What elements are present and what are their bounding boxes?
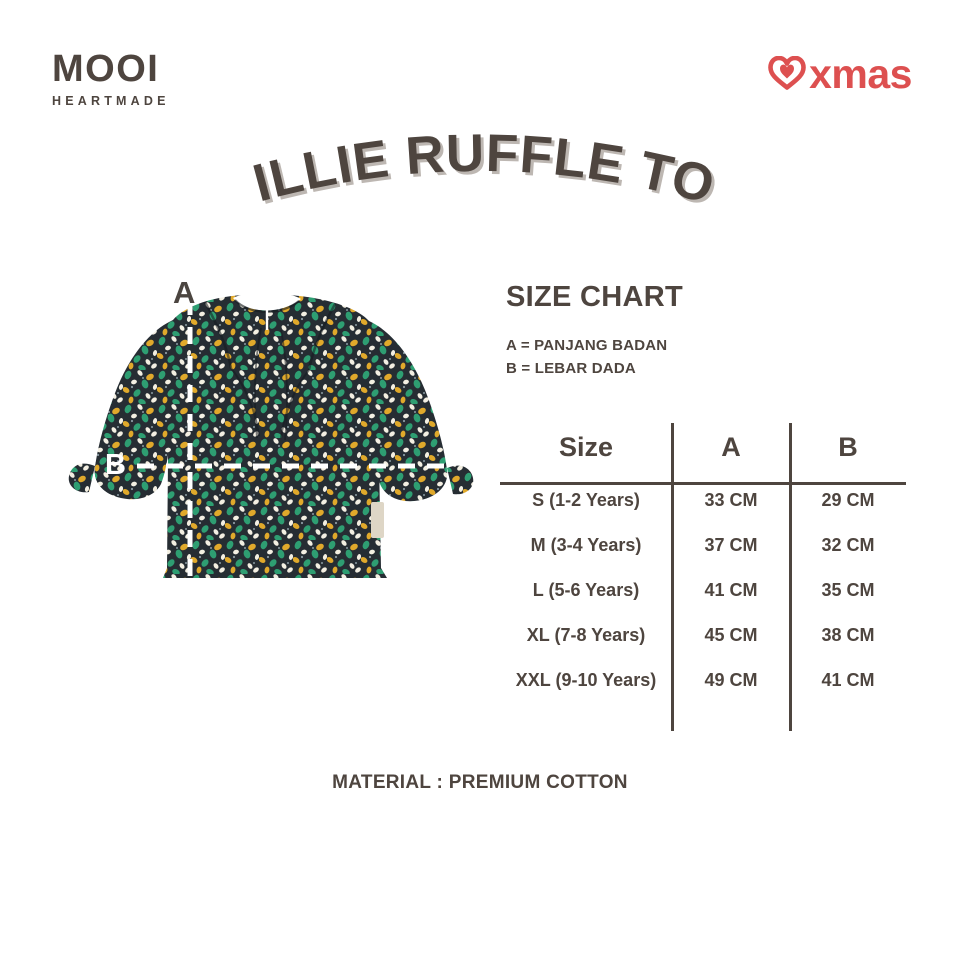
measure-label-b: B (105, 451, 126, 480)
column-header-size: Size (500, 420, 672, 478)
garment-body (163, 292, 387, 578)
cell-a: 41 CM (672, 568, 790, 613)
cell-size: L (5-6 Years) (500, 568, 672, 613)
legend-line-a: A = PANJANG BADAN (506, 334, 916, 357)
table-row: L (5-6 Years) 41 CM 35 CM (500, 568, 906, 613)
column-header-a: A (672, 420, 790, 478)
table-row: XL (7-8 Years) 45 CM 38 CM (500, 613, 906, 658)
cell-a: 45 CM (672, 613, 790, 658)
brand-tagline: HEARTMADE (52, 95, 282, 108)
table-divider-vertical-2 (789, 423, 792, 731)
brand-wordmark: MOOI (52, 50, 282, 88)
xmas-campaign-logo: xmas (767, 50, 912, 96)
xmas-wordmark: xmas (809, 54, 912, 95)
garment-svg (55, 268, 495, 608)
cell-a: 37 CM (672, 523, 790, 568)
cell-b: 38 CM (790, 613, 906, 658)
heart-icon (767, 56, 807, 90)
table-header-row: Size A B (500, 420, 906, 478)
table-row: XXL (9-10 Years) 49 CM 41 CM (500, 658, 906, 703)
size-chart-page: MOOI HEARTMADE xmas MILLIE RUFFLE TOP MI… (0, 0, 960, 960)
material-note: MATERIAL : PREMIUM COTTON (0, 772, 960, 794)
size-table: Size A B S (1-2 Years) 33 CM 29 CM M (3-… (500, 420, 906, 703)
cell-size: XXL (9-10 Years) (500, 658, 672, 703)
cell-b: 41 CM (790, 658, 906, 703)
table-divider-horizontal (500, 482, 906, 485)
table-row: M (3-4 Years) 37 CM 32 CM (500, 523, 906, 568)
cell-a: 49 CM (672, 658, 790, 703)
care-tag (371, 502, 384, 538)
size-chart-heading: SIZE CHART (506, 283, 916, 312)
legend-line-b: B = LEBAR DADA (506, 357, 916, 380)
size-table-container: Size A B S (1-2 Years) 33 CM 29 CM M (3-… (500, 420, 906, 732)
garment-illustration: A B (55, 268, 495, 608)
size-chart-panel: SIZE CHART A = PANJANG BADAN B = LEBAR D… (506, 283, 916, 381)
cell-size: M (3-4 Years) (500, 523, 672, 568)
table-divider-vertical-1 (671, 423, 674, 731)
page-title: MILLIE RUFFLE TOP MILLIE RUFFLE TOP (0, 118, 960, 228)
brand-logo: MOOI HEARTMADE (52, 50, 282, 108)
column-header-b: B (790, 420, 906, 478)
cell-size: XL (7-8 Years) (500, 613, 672, 658)
cell-b: 32 CM (790, 523, 906, 568)
measure-label-a: A (173, 277, 195, 308)
page-title-svg: MILLIE RUFFLE TOP MILLIE RUFFLE TOP (0, 118, 960, 228)
cell-b: 35 CM (790, 568, 906, 613)
garment-right-sleeve (369, 321, 473, 501)
